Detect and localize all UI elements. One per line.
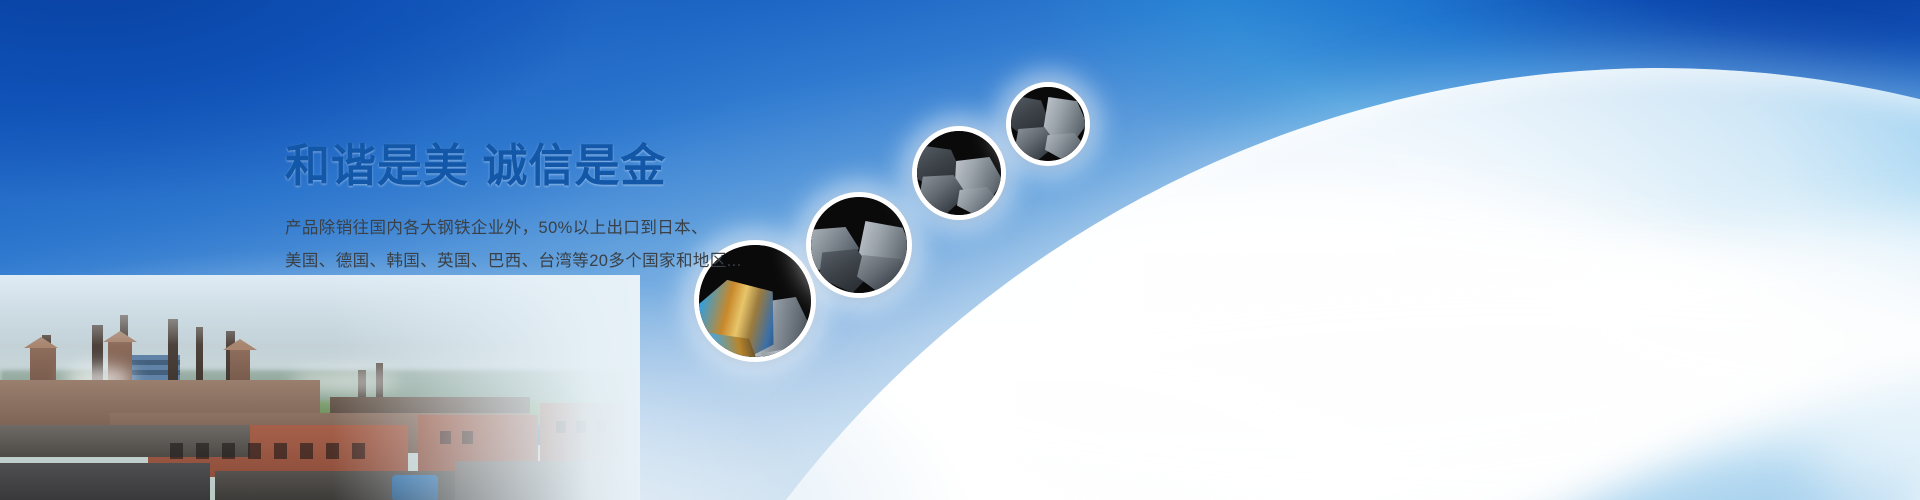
- ore-photo-3: [917, 131, 1001, 215]
- ore-photo-4: [1011, 87, 1085, 161]
- ore-circle-3[interactable]: [912, 126, 1006, 220]
- banner-subtitle-line-2: 美国、德国、韩国、英国、巴西、台湾等20多个国家和地区...: [285, 245, 845, 278]
- banner-subtitle: 产品除销往国内各大钢铁企业外，50%以上出口到日本、 美国、德国、韩国、英国、巴…: [285, 212, 845, 278]
- banner-subtitle-line-1: 产品除销往国内各大钢铁企业外，50%以上出口到日本、: [285, 212, 845, 245]
- steel-plant-photo: [0, 275, 640, 500]
- banner-copy-block: 和谐是美 诚信是金 产品除销往国内各大钢铁企业外，50%以上出口到日本、 美国、…: [285, 142, 845, 278]
- plant-right-fade: [0, 275, 640, 500]
- hero-banner: 和谐是美 诚信是金 产品除销往国内各大钢铁企业外，50%以上出口到日本、 美国、…: [0, 0, 1920, 500]
- ore-circle-4[interactable]: [1006, 82, 1090, 166]
- banner-headline: 和谐是美 诚信是金: [285, 142, 845, 190]
